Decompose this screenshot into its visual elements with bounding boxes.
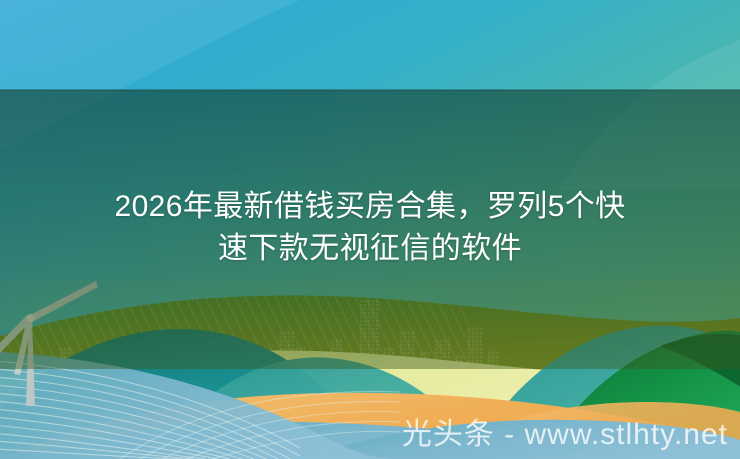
dark-overlay-band-lower [0,280,740,369]
poster-canvas: 2026年最新借钱买房合集，罗列5个快 速下款无视征信的软件 光头条 - www… [0,0,740,459]
background-artwork [0,0,740,459]
site-watermark: 光头条 - www.stlhty.net [402,417,728,453]
overlay-hairline [0,89,740,91]
dark-overlay-band [0,90,740,280]
